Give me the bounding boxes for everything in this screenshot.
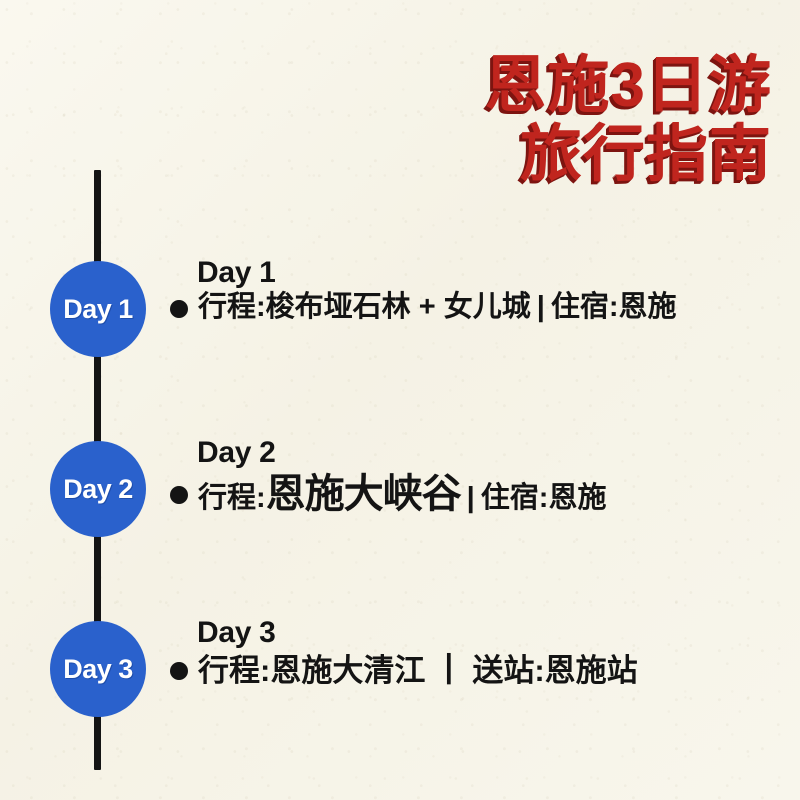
day-content-1: Day 1 行程:梭布垭石林 + 女儿城|住宿:恩施 [170,258,792,324]
day-content-3: Day 3 行程:恩施大清江丨送站:恩施站 [170,618,792,688]
detail-segment: 住宿: [551,291,619,323]
detail-segment: 行程: [198,482,266,514]
bullet-dot-icon [170,486,188,504]
travel-guide-poster: 恩施3日游 旅行指南 Day 1 Day 1 行程:梭布垭石林 + 女儿城|住宿… [0,0,800,800]
day-detail-line: 行程:恩施大清江丨送站:恩施站 [170,652,792,688]
day-heading: Day 1 [197,258,792,288]
detail-segment: 送站: [472,653,544,688]
day-detail-line: 行程:梭布垭石林 + 女儿城|住宿:恩施 [170,292,792,324]
detail-segment: | [461,482,481,514]
timeline-day-row: Day 1 Day 1 行程:梭布垭石林 + 女儿城|住宿:恩施 [0,258,800,358]
title-line-secondary: 旅行指南 [485,125,772,186]
day-badge-1: Day 1 [50,261,146,357]
detail-segment: 恩施大清江 [270,653,425,688]
timeline-day-row: Day 3 Day 3 行程:恩施大清江丨送站:恩施站 [0,618,800,718]
detail-segment: 梭布垭石林 + 女儿城 [266,291,531,323]
detail-segment: 行程: [198,653,270,688]
detail-segment: 丨 [425,651,472,688]
day-badge-label: Day 2 [63,474,133,505]
detail-segment: | [531,291,551,323]
detail-segment: 恩施站 [545,653,638,688]
day-badge-label: Day 1 [63,294,133,325]
detail-segment: 恩施大峡谷 [266,472,461,516]
day-detail-text: 行程:恩施大峡谷|住宿:恩施 [198,472,606,516]
day-detail-line: 行程:恩施大峡谷|住宿:恩施 [170,472,792,516]
detail-segment: 住宿: [481,482,549,514]
title-line-primary: 恩施3日游 [485,56,772,117]
day-detail-text: 行程:恩施大清江丨送站:恩施站 [198,652,638,688]
bullet-dot-icon [170,300,188,318]
day-heading: Day 2 [197,438,792,468]
detail-segment: 行程: [198,291,266,323]
detail-segment: 恩施 [619,291,677,323]
timeline-day-row: Day 2 Day 2 行程:恩施大峡谷|住宿:恩施 [0,438,800,538]
day-content-2: Day 2 行程:恩施大峡谷|住宿:恩施 [170,438,792,516]
bullet-dot-icon [170,662,188,680]
poster-title: 恩施3日游 旅行指南 [485,56,772,186]
day-detail-text: 行程:梭布垭石林 + 女儿城|住宿:恩施 [198,292,677,324]
day-heading: Day 3 [197,618,792,648]
day-badge-3: Day 3 [50,621,146,717]
day-badge-2: Day 2 [50,441,146,537]
day-badge-label: Day 3 [63,654,133,685]
detail-segment: 恩施 [548,482,606,514]
